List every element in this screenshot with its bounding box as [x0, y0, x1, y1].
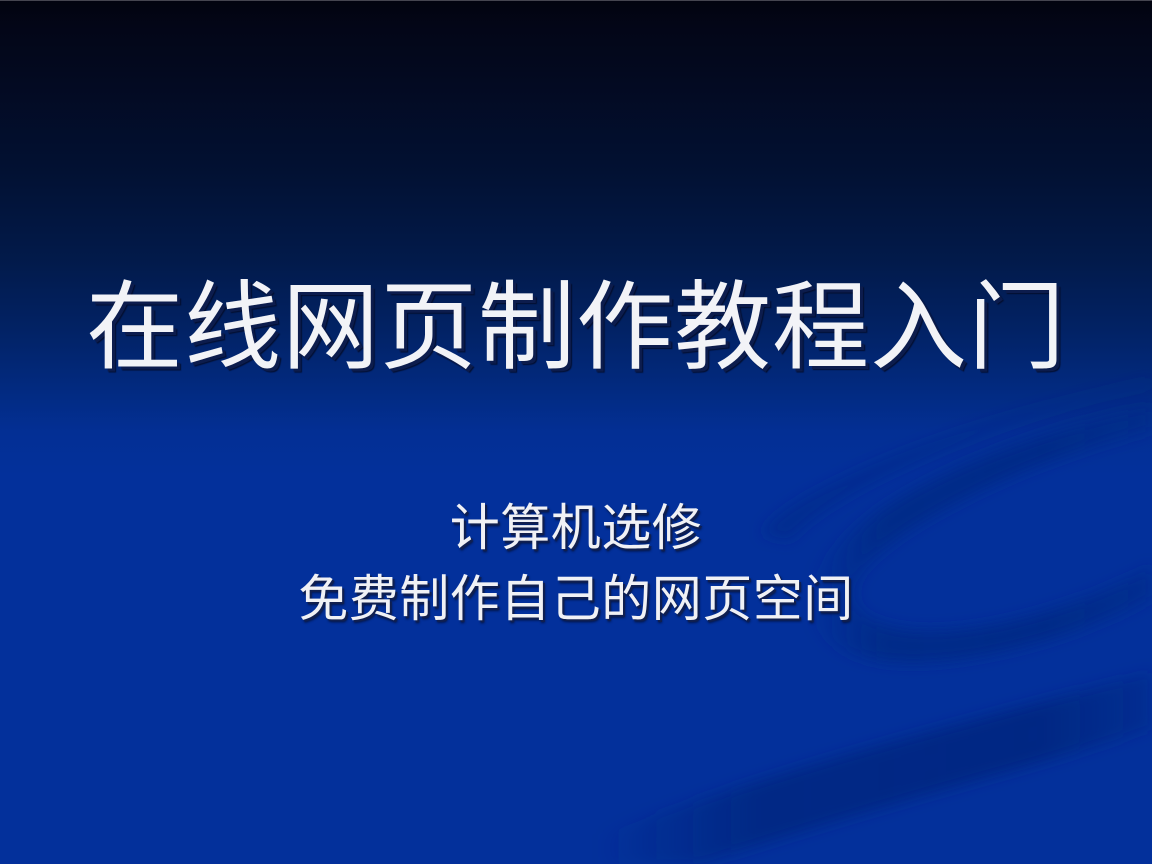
background-swoosh-decoration	[0, 0, 1152, 864]
subtitle-container: 计算机选修 免费制作自己的网页空间	[0, 493, 1152, 635]
subtitle-line-2: 免费制作自己的网页空间	[0, 564, 1152, 635]
page-title: 在线网页制作教程入门	[0, 276, 1152, 381]
title-container: 在线网页制作教程入门	[0, 276, 1152, 381]
slide-top-edge	[0, 0, 1152, 1]
subtitle-line-1: 计算机选修	[0, 493, 1152, 564]
title-slide: 在线网页制作教程入门 计算机选修 免费制作自己的网页空间	[0, 0, 1152, 864]
swoosh-ribbon-lower	[600, 672, 1152, 864]
